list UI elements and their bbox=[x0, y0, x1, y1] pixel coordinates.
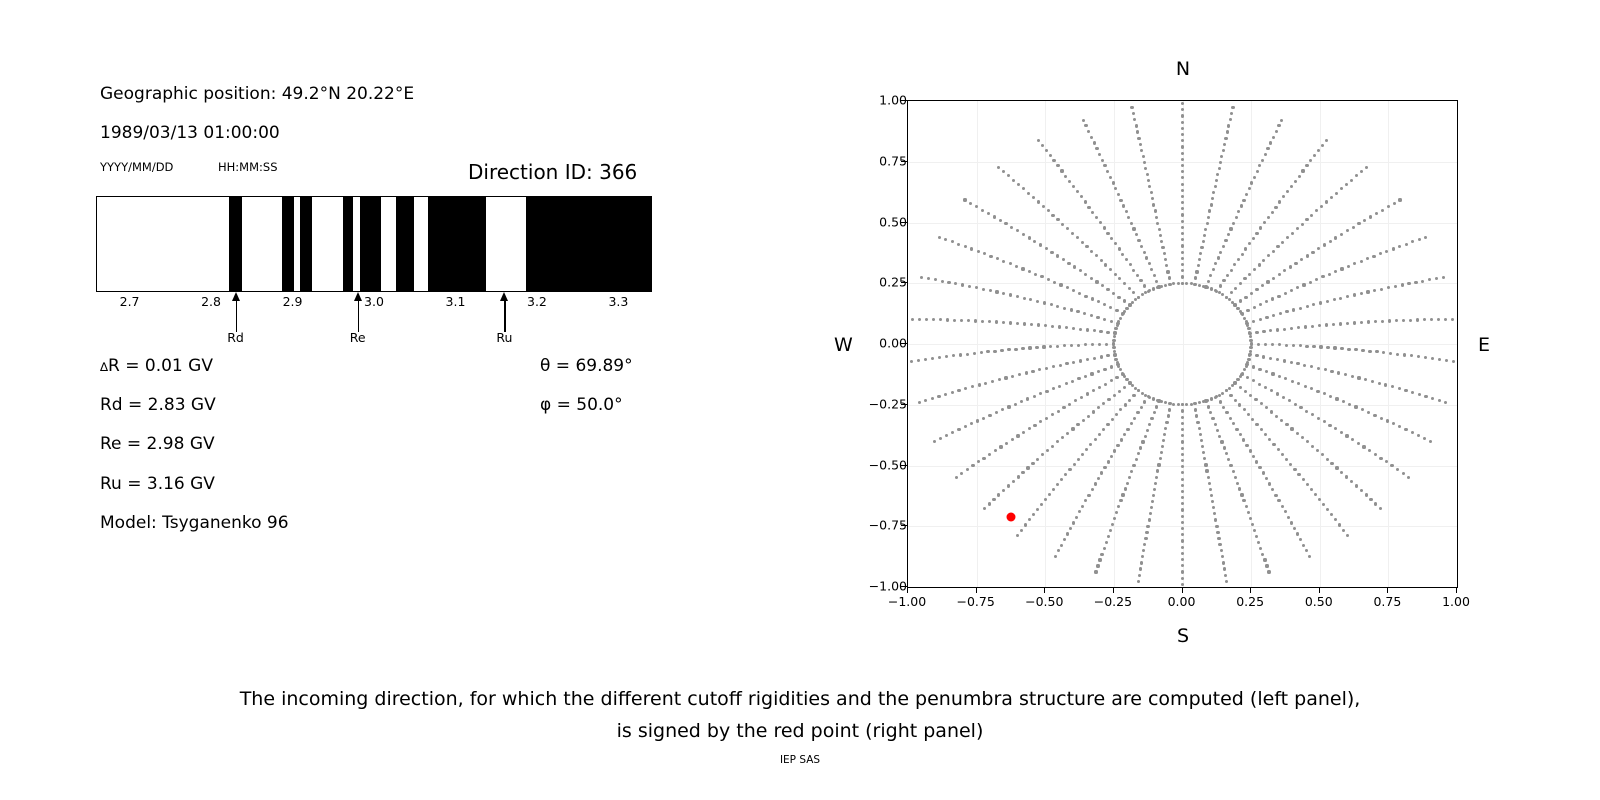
direction-dot bbox=[1223, 446, 1226, 449]
direction-dot bbox=[1367, 320, 1370, 323]
direction-dot bbox=[1145, 531, 1148, 534]
direction-dot bbox=[1218, 435, 1221, 438]
direction-dot bbox=[1262, 330, 1265, 333]
direction-dot bbox=[1181, 269, 1184, 272]
direction-dot bbox=[1305, 410, 1308, 413]
direction-dot bbox=[1375, 350, 1378, 353]
direction-dot bbox=[1023, 322, 1026, 325]
direction-dot bbox=[1360, 260, 1363, 263]
direction-dot bbox=[1014, 348, 1017, 351]
direction-dot bbox=[1231, 106, 1234, 109]
direction-dot bbox=[1181, 127, 1184, 130]
direction-dot bbox=[1132, 269, 1135, 272]
direction-dot bbox=[1324, 368, 1327, 371]
direction-dot bbox=[1113, 354, 1116, 357]
direction-dot bbox=[1221, 555, 1224, 558]
direction-dot bbox=[1211, 417, 1214, 420]
direction-dot bbox=[1285, 310, 1288, 313]
direction-dot bbox=[1005, 442, 1008, 445]
direction-dot bbox=[1219, 400, 1222, 403]
direction-dot bbox=[1297, 382, 1300, 385]
direction-dot bbox=[1153, 488, 1156, 491]
direction-dot bbox=[1091, 343, 1094, 346]
direction-dot bbox=[1244, 390, 1247, 393]
direction-dot bbox=[1181, 121, 1184, 124]
figure-root: Geographic position: 49.2°N 20.22°E 1989… bbox=[0, 0, 1600, 800]
direction-dot bbox=[1223, 567, 1226, 570]
direction-dot bbox=[1115, 309, 1118, 312]
direction-dot bbox=[1181, 465, 1184, 468]
direction-dot bbox=[1325, 139, 1328, 142]
direction-dot bbox=[1398, 245, 1401, 248]
direction-dot bbox=[1141, 293, 1144, 296]
penumbra-forbidden-band bbox=[343, 197, 353, 291]
direction-dot bbox=[1016, 434, 1019, 437]
direction-dot bbox=[1168, 408, 1171, 411]
direction-dot bbox=[1100, 259, 1103, 262]
direction-dot bbox=[1181, 133, 1184, 136]
date-format-hint: YYYY/MM/DD bbox=[100, 160, 173, 174]
direction-dot bbox=[932, 318, 935, 321]
time-format-hint: HH:MM:SS bbox=[218, 160, 278, 174]
direction-dot bbox=[1076, 310, 1079, 313]
direction-dot bbox=[1214, 185, 1217, 188]
direction-dot bbox=[1216, 429, 1219, 432]
direction-dot bbox=[1076, 236, 1079, 239]
direction-dot bbox=[1137, 389, 1140, 392]
direction-dot bbox=[961, 283, 964, 286]
direction-dot bbox=[1046, 449, 1049, 452]
direction-dot bbox=[1012, 480, 1015, 483]
direction-dot bbox=[1292, 344, 1295, 347]
direction-dot bbox=[1421, 280, 1424, 283]
direction-dot bbox=[1033, 395, 1036, 398]
direction-dot bbox=[1294, 262, 1297, 265]
direction-dot bbox=[1098, 153, 1101, 156]
direction-dot bbox=[1072, 327, 1075, 330]
direction-dot bbox=[934, 278, 937, 281]
y-axis-tick-mark bbox=[901, 465, 907, 466]
direction-dot bbox=[1401, 283, 1404, 286]
direction-dot bbox=[1259, 226, 1262, 229]
direction-dot bbox=[969, 202, 972, 205]
direction-dot bbox=[1024, 523, 1027, 526]
direction-dot bbox=[1335, 466, 1338, 469]
direction-dot bbox=[1391, 385, 1394, 388]
direction-dot bbox=[1409, 319, 1412, 322]
direction-dot bbox=[1398, 387, 1401, 390]
direction-dot bbox=[1036, 508, 1039, 511]
direction-dot bbox=[1136, 274, 1139, 277]
direction-dot bbox=[1300, 258, 1303, 261]
direction-dot bbox=[1110, 365, 1113, 368]
direction-dot bbox=[1230, 269, 1233, 272]
direction-dot bbox=[1069, 527, 1072, 530]
direction-dot bbox=[1150, 268, 1153, 271]
direction-dot bbox=[1095, 216, 1098, 219]
direction-dot bbox=[1064, 175, 1067, 178]
direction-dot bbox=[1141, 392, 1144, 395]
direction-dot bbox=[1018, 373, 1021, 376]
direction-dot bbox=[1115, 376, 1118, 379]
caption-line-1: The incoming direction, for which the di… bbox=[0, 683, 1600, 715]
direction-dot bbox=[1016, 322, 1019, 325]
direction-dot bbox=[1126, 428, 1129, 431]
direction-dot bbox=[1078, 292, 1081, 295]
direction-dot bbox=[1286, 236, 1289, 239]
direction-dot bbox=[1082, 119, 1085, 122]
direction-dot bbox=[966, 468, 969, 471]
penumbra-forbidden-band bbox=[229, 197, 242, 291]
direction-dot bbox=[1151, 197, 1154, 200]
direction-dot bbox=[1353, 262, 1356, 265]
direction-dot bbox=[1340, 471, 1343, 474]
direction-dot bbox=[1139, 279, 1142, 282]
direction-dot bbox=[1160, 400, 1163, 403]
direction-dot bbox=[1016, 295, 1019, 298]
direction-dot bbox=[1251, 418, 1254, 421]
direction-dot bbox=[1072, 289, 1075, 292]
direction-dot bbox=[1043, 301, 1046, 304]
direction-dot bbox=[1045, 390, 1048, 393]
rigidity-marker-label: Re bbox=[350, 330, 366, 345]
direction-dot bbox=[971, 385, 974, 388]
direction-dot bbox=[976, 419, 979, 422]
direction-dot bbox=[1271, 488, 1274, 491]
direction-dot bbox=[1016, 229, 1019, 232]
direction-dot bbox=[1063, 307, 1066, 310]
direction-dot bbox=[1346, 534, 1349, 537]
direction-dot bbox=[1315, 278, 1318, 281]
x-axis-tick-label: −0.25 bbox=[1094, 594, 1132, 609]
sky-plot-area bbox=[907, 100, 1458, 588]
direction-dot bbox=[1209, 488, 1212, 491]
direction-dot bbox=[1351, 375, 1354, 378]
direction-dot bbox=[1028, 236, 1031, 239]
direction-dot bbox=[1266, 147, 1269, 150]
direction-dot bbox=[1085, 245, 1088, 248]
direction-dot bbox=[1410, 354, 1413, 357]
direction-dot bbox=[1162, 439, 1165, 442]
direction-dot bbox=[1080, 195, 1083, 198]
direction-dot bbox=[1238, 403, 1241, 406]
direction-dot bbox=[1445, 359, 1448, 362]
direction-dot bbox=[1214, 518, 1217, 521]
direction-dot bbox=[1242, 499, 1245, 502]
direction-dot bbox=[1296, 362, 1299, 365]
direction-dot bbox=[1144, 291, 1147, 294]
direction-dot bbox=[1117, 320, 1120, 323]
direction-dot bbox=[1137, 137, 1140, 140]
direction-dot bbox=[1379, 252, 1382, 255]
direction-dot bbox=[1061, 436, 1064, 439]
direction-dot bbox=[995, 320, 998, 323]
direction-dot bbox=[1045, 149, 1048, 152]
direction-dot bbox=[1255, 232, 1258, 235]
direction-dot bbox=[1252, 320, 1255, 323]
direction-dot bbox=[1002, 260, 1005, 263]
direction-dot bbox=[1140, 561, 1143, 564]
direction-dot bbox=[918, 401, 921, 404]
direction-dot bbox=[1319, 345, 1322, 348]
direction-dot bbox=[1040, 275, 1043, 278]
selected-direction-point[interactable] bbox=[1006, 512, 1015, 521]
direction-dot bbox=[1316, 390, 1319, 393]
direction-dot bbox=[1297, 473, 1300, 476]
direction-dot bbox=[1190, 403, 1193, 406]
direction-dot bbox=[964, 387, 967, 390]
direction-dot bbox=[1109, 306, 1112, 309]
direction-dot bbox=[1079, 328, 1082, 331]
direction-dot bbox=[1218, 543, 1221, 546]
direction-dot bbox=[1242, 199, 1245, 202]
direction-dot bbox=[1037, 200, 1040, 203]
direction-dot bbox=[1116, 324, 1119, 327]
direction-dot bbox=[1239, 282, 1242, 285]
compass-label-east: E bbox=[1478, 334, 1490, 356]
direction-dot bbox=[1181, 583, 1184, 586]
direction-dot bbox=[1334, 518, 1337, 521]
direction-dot bbox=[1125, 307, 1128, 310]
direction-dot bbox=[1380, 417, 1383, 420]
direction-dot bbox=[1004, 376, 1007, 379]
direction-dot bbox=[1041, 453, 1044, 456]
direction-dot bbox=[1267, 254, 1270, 257]
direction-dot bbox=[1076, 190, 1079, 193]
direction-dot bbox=[1181, 220, 1184, 223]
direction-dot bbox=[1132, 464, 1135, 467]
direction-dot bbox=[1203, 234, 1206, 237]
direction-dot bbox=[1269, 357, 1272, 360]
direction-dot bbox=[1334, 270, 1337, 273]
direction-dot bbox=[1119, 317, 1122, 320]
direction-dot bbox=[1221, 392, 1224, 395]
direction-dot bbox=[1164, 258, 1167, 261]
direction-dot bbox=[1181, 409, 1184, 412]
direction-dot bbox=[1259, 547, 1262, 550]
direction-dot bbox=[1245, 505, 1248, 508]
direction-dot bbox=[1119, 408, 1122, 411]
direction-dot bbox=[1104, 383, 1107, 386]
direction-dot bbox=[1323, 420, 1326, 423]
direction-dot bbox=[1103, 303, 1106, 306]
direction-dot bbox=[1389, 352, 1392, 355]
direction-dot bbox=[947, 281, 950, 284]
direction-dot bbox=[1293, 468, 1296, 471]
direction-dot bbox=[1181, 164, 1184, 167]
direction-dot bbox=[1297, 326, 1300, 329]
direction-dot bbox=[1214, 396, 1217, 399]
direction-dot bbox=[1071, 427, 1074, 430]
direction-dot bbox=[1354, 348, 1357, 351]
direction-dot bbox=[1311, 251, 1314, 254]
direction-dot bbox=[1045, 367, 1048, 370]
left-panel: Geographic position: 49.2°N 20.22°E 1989… bbox=[0, 0, 780, 620]
direction-dot bbox=[951, 391, 954, 394]
direction-dot bbox=[1232, 422, 1235, 425]
direction-dot bbox=[1424, 236, 1427, 239]
direction-dot bbox=[1152, 397, 1155, 400]
direction-dot bbox=[1217, 537, 1220, 540]
direction-dot bbox=[1087, 415, 1090, 418]
direction-dot bbox=[1031, 462, 1034, 465]
direction-dot bbox=[1238, 487, 1241, 490]
direction-dot bbox=[1035, 346, 1038, 349]
direction-dot bbox=[1123, 310, 1126, 313]
direction-dot bbox=[1417, 434, 1420, 437]
direction-dot bbox=[1235, 428, 1238, 431]
direction-dot bbox=[1123, 299, 1126, 302]
direction-dot bbox=[1255, 535, 1258, 538]
direction-dot bbox=[1061, 223, 1064, 226]
x-axis-tick-mark bbox=[1319, 587, 1320, 593]
direction-dot bbox=[1334, 427, 1337, 430]
direction-dot bbox=[1452, 360, 1455, 363]
direction-dot bbox=[1322, 503, 1325, 506]
direction-dot bbox=[1152, 494, 1155, 497]
direction-dot bbox=[1312, 303, 1315, 306]
direction-dot bbox=[1276, 328, 1279, 331]
direction-dot bbox=[1106, 288, 1109, 291]
direction-dot bbox=[1253, 268, 1256, 271]
direction-dot bbox=[1395, 319, 1398, 322]
direction-dot bbox=[1239, 299, 1242, 302]
direction-dot bbox=[1232, 222, 1235, 225]
direction-dot bbox=[944, 393, 947, 396]
direction-dot bbox=[1366, 257, 1369, 260]
direction-dot bbox=[1240, 493, 1243, 496]
penumbra-forbidden-band bbox=[300, 197, 312, 291]
direction-dot bbox=[1256, 170, 1259, 173]
penumbra-tick-label: 2.8 bbox=[201, 294, 221, 309]
direction-dot bbox=[1198, 284, 1201, 287]
direction-dot bbox=[1212, 191, 1215, 194]
direction-dot bbox=[1160, 451, 1163, 454]
direction-dot bbox=[997, 493, 1000, 496]
direction-dot bbox=[1058, 385, 1061, 388]
gridline-horizontal bbox=[908, 162, 1457, 163]
direction-dot bbox=[1012, 179, 1015, 182]
direction-dot bbox=[1090, 277, 1093, 280]
y-axis-tick-mark bbox=[901, 222, 907, 223]
direction-dot bbox=[1321, 453, 1324, 456]
direction-dot bbox=[1028, 518, 1031, 521]
direction-dot bbox=[1281, 453, 1284, 456]
direction-dot bbox=[1250, 181, 1253, 184]
direction-dot bbox=[1121, 313, 1124, 316]
direction-dot bbox=[1203, 457, 1206, 460]
direction-dot bbox=[1417, 355, 1420, 358]
direction-dot bbox=[1234, 287, 1237, 290]
direction-dot bbox=[1078, 510, 1081, 513]
direction-dot bbox=[1142, 549, 1145, 552]
direction-dot bbox=[1152, 203, 1155, 206]
direction-dot bbox=[1264, 386, 1267, 389]
direction-dot bbox=[1330, 513, 1333, 516]
y-axis-tick-mark bbox=[901, 100, 907, 101]
direction-dot bbox=[1340, 347, 1343, 350]
direction-dot bbox=[1072, 361, 1075, 364]
direction-dot bbox=[1195, 414, 1198, 417]
direction-dot bbox=[1042, 205, 1045, 208]
direction-dot bbox=[1276, 358, 1279, 361]
direction-dot bbox=[1181, 244, 1184, 247]
direction-dot bbox=[1098, 558, 1101, 561]
direction-dot bbox=[1333, 298, 1336, 301]
direction-dot bbox=[1271, 211, 1274, 214]
direction-dot bbox=[1350, 179, 1353, 182]
direction-dot bbox=[1079, 269, 1082, 272]
direction-dot bbox=[1431, 397, 1434, 400]
direction-dot bbox=[1222, 279, 1225, 282]
direction-dot bbox=[1284, 292, 1287, 295]
direction-dot bbox=[1181, 251, 1184, 254]
direction-dot bbox=[1181, 502, 1184, 505]
direction-dot bbox=[1066, 532, 1069, 535]
direction-dot bbox=[1026, 466, 1029, 469]
direction-dot bbox=[1106, 331, 1109, 334]
direction-dot bbox=[1368, 350, 1371, 353]
direction-dot bbox=[1277, 124, 1280, 127]
direction-dot bbox=[1360, 292, 1363, 295]
direction-dot bbox=[1198, 427, 1201, 430]
direction-dot bbox=[1306, 305, 1309, 308]
direction-dot bbox=[1093, 141, 1096, 144]
x-axis-tick-mark bbox=[1044, 587, 1045, 593]
direction-dot bbox=[1430, 318, 1433, 321]
direction-dot bbox=[1296, 532, 1299, 535]
direction-dot bbox=[1373, 289, 1376, 292]
direction-dot bbox=[994, 449, 997, 452]
x-axis-tick-label: 0.75 bbox=[1373, 594, 1401, 609]
direction-dot bbox=[1367, 411, 1370, 414]
direction-dot bbox=[970, 247, 973, 250]
direction-dot bbox=[1125, 258, 1128, 261]
direction-dot bbox=[1199, 433, 1202, 436]
direction-dot bbox=[1181, 496, 1184, 499]
direction-dot bbox=[1269, 329, 1272, 332]
direction-dot bbox=[946, 318, 949, 321]
direction-dot bbox=[1330, 462, 1333, 465]
direction-dot bbox=[1258, 466, 1261, 469]
direction-dot bbox=[1097, 370, 1100, 373]
direction-dot bbox=[1198, 258, 1201, 261]
direction-dot bbox=[1148, 396, 1151, 399]
direction-dot bbox=[1044, 498, 1047, 501]
direction-dot bbox=[1144, 435, 1147, 438]
direction-dot bbox=[1365, 166, 1368, 169]
direction-dot bbox=[1002, 170, 1005, 173]
direction-dot bbox=[1288, 399, 1291, 402]
direction-dot bbox=[1262, 259, 1265, 262]
direction-dot bbox=[1268, 438, 1271, 441]
direction-dot bbox=[1229, 417, 1232, 420]
direction-dot bbox=[1387, 286, 1390, 289]
direction-dot bbox=[1081, 505, 1084, 508]
direction-dot bbox=[1258, 164, 1261, 167]
direction-dot bbox=[1335, 397, 1338, 400]
direction-dot bbox=[1181, 416, 1184, 419]
direction-dot bbox=[1222, 561, 1225, 564]
compass-label-north: N bbox=[1176, 58, 1190, 80]
direction-dot bbox=[1084, 273, 1087, 276]
direction-dot bbox=[939, 437, 942, 440]
direction-dot bbox=[1181, 577, 1184, 580]
direction-dot bbox=[973, 352, 976, 355]
direction-dot bbox=[1270, 389, 1273, 392]
direction-dot bbox=[1087, 206, 1090, 209]
direction-dot bbox=[1261, 553, 1264, 556]
